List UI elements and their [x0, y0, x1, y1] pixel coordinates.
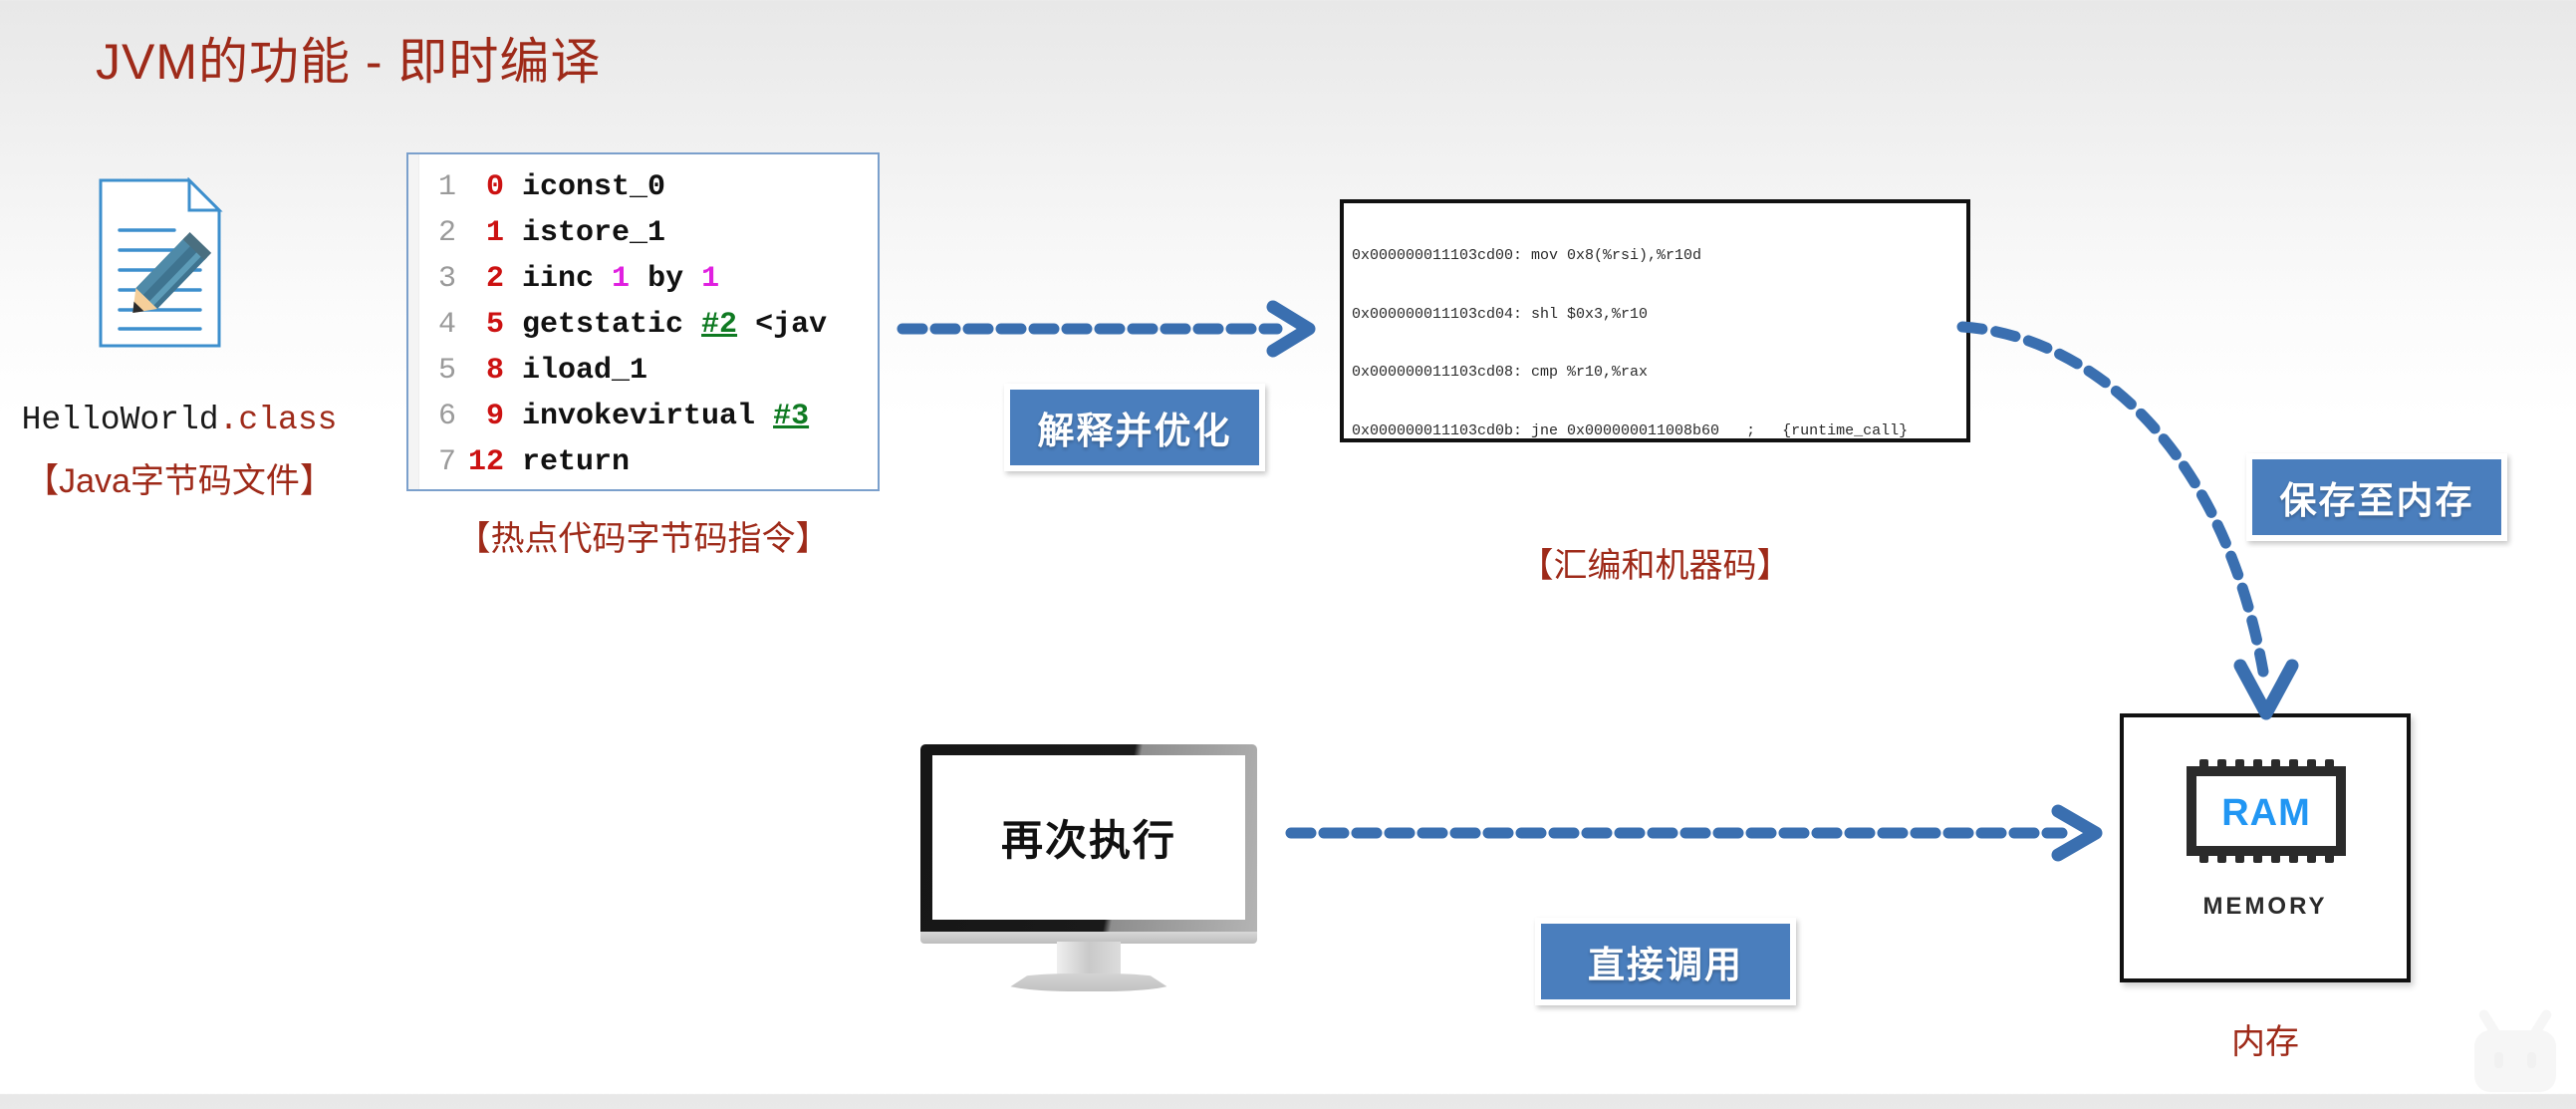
page-title: JVM的功能 - 即时编译 [96, 22, 601, 94]
memory-caption: 内存 [2120, 1014, 2411, 1063]
bytecode-row: 45getstatic #2 <jav [422, 302, 878, 348]
bytecode-instruction: invokevirtual [522, 400, 755, 433]
bytecode-keyword: by [647, 262, 683, 296]
arrow-bytecode-to-assembly [897, 289, 1325, 369]
bytecode-line-number: 6 [422, 394, 456, 439]
class-file-sublabel: 【Java字节码文件】 [0, 453, 359, 502]
callout-direct-label: 直接调用 [1588, 935, 1743, 988]
bytecode-row: 712return [422, 439, 878, 485]
document-with-pencil-icon [98, 177, 232, 349]
bytecode-constant-ref[interactable]: #2 [701, 308, 737, 342]
bilibili-tv-icon [2460, 1004, 2570, 1104]
bytecode-instruction: iload_1 [522, 354, 647, 388]
class-file-name-base: HelloWorld [22, 402, 219, 438]
memory-chip-label: MEMORY [2124, 893, 2407, 921]
bytecode-line-number: 4 [422, 302, 456, 348]
bytecode-offset: 2 [456, 256, 504, 302]
bytecode-arg: 1 [612, 262, 630, 296]
bytecode-gutter [408, 154, 419, 489]
bytecode-instruction: istore_1 [522, 216, 665, 250]
bytecode-instruction: iinc [522, 262, 594, 296]
bytecode-instruction: iconst_0 [522, 170, 665, 204]
assembly-caption: 【汇编和机器码】 [1340, 538, 1970, 587]
class-file-name: HelloWorld.class [0, 399, 359, 438]
bytecode-arg: 1 [701, 262, 719, 296]
bytecode-line-number: 3 [422, 256, 456, 302]
bytecode-row: 21istore_1 [422, 210, 878, 256]
bytecode-row: 32iinc 1 by 1 [422, 256, 878, 302]
monitor-screen-text: 再次执行 [1001, 807, 1176, 868]
memory-box: RAM MEMORY [2120, 713, 2411, 982]
svg-text:RAM: RAM [2221, 792, 2311, 834]
assembly-row: 0x000000011103cd08: cmp %r10,%rax [1352, 363, 1962, 383]
bytecode-constant-ref[interactable]: #3 [773, 400, 809, 433]
bytecode-offset: 5 [456, 302, 504, 348]
monitor-base [1003, 973, 1174, 991]
assembly-row: 0x000000011103cd0b: jne 0x000000011008b6… [1352, 421, 1962, 441]
bytecode-listing: 10iconst_0 21istore_1 32iinc 1 by 1 45ge… [422, 164, 878, 485]
bytecode-offset: 9 [456, 394, 504, 439]
ram-chip-icon: RAM [2180, 759, 2351, 863]
callout-interpret-and-optimize[interactable]: 解释并优化 [1004, 384, 1265, 471]
assembly-row: 0x000000011103cd00: mov 0x8(%rsi),%r10d [1352, 246, 1962, 266]
assembly-panel: 0x000000011103cd00: mov 0x8(%rsi),%r10d … [1340, 199, 1970, 442]
assembly-row: 0x000000011103cd04: shl $0x3,%r10 [1352, 305, 1962, 325]
bytecode-row: 69invokevirtual #3 [422, 394, 878, 439]
bytecode-row: 10iconst_0 [422, 164, 878, 210]
assembly-listing: 0x000000011103cd00: mov 0x8(%rsi),%r10d … [1352, 207, 1962, 442]
bytecode-line-number: 1 [422, 164, 456, 210]
class-file-name-ext: .class [219, 402, 338, 438]
bytecode-line-number: 7 [422, 439, 456, 485]
monitor-icon: 再次执行 [920, 744, 1257, 961]
bytecode-offset: 12 [456, 439, 504, 485]
monitor-screen: 再次执行 [932, 755, 1245, 920]
bytecode-row: 58iload_1 [422, 348, 878, 394]
bytecode-offset: 8 [456, 348, 504, 394]
callout-save-to-memory[interactable]: 保存至内存 [2246, 453, 2507, 541]
bytecode-line-number: 5 [422, 348, 456, 394]
monitor-neck [1057, 942, 1121, 977]
callout-interpret-label: 解释并优化 [1038, 401, 1232, 454]
arrow-monitor-to-memory [1285, 797, 2112, 867]
bytecode-instruction: return [522, 445, 630, 479]
bytecode-operand-clipped: <jav [755, 308, 827, 342]
callout-save-label: 保存至内存 [2280, 470, 2474, 524]
bytecode-caption: 【热点代码字节码指令】 [406, 511, 880, 560]
bytecode-offset: 1 [456, 210, 504, 256]
callout-direct-call[interactable]: 直接调用 [1535, 918, 1796, 1005]
bytecode-panel: 10iconst_0 21istore_1 32iinc 1 by 1 45ge… [406, 152, 880, 491]
bytecode-line-number: 2 [422, 210, 456, 256]
bytecode-instruction: getstatic [522, 308, 683, 342]
bytecode-offset: 0 [456, 164, 504, 210]
